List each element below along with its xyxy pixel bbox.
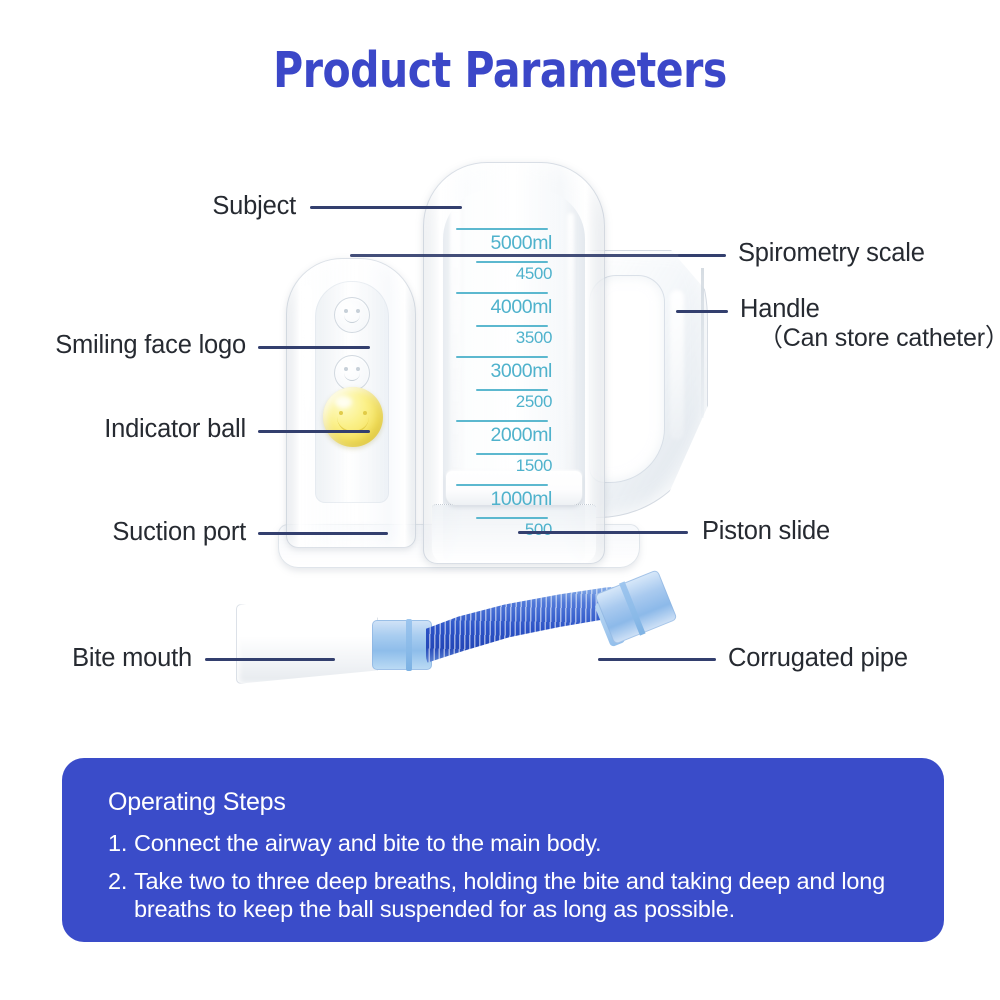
page-title: Product Parameters — [35, 42, 965, 99]
handle-edge — [701, 268, 704, 418]
callout-spirometry-scale: Spirometry scale — [738, 239, 925, 268]
smiley-face-logo-icon — [334, 355, 370, 391]
step-text: Connect the airway and bite to the main … — [134, 829, 910, 858]
leader-line-bite-mouth — [205, 658, 335, 661]
step-number: 2. — [108, 867, 134, 924]
corrugated-pipe-illustration — [228, 560, 698, 710]
scale-label-minor: 1500 — [516, 456, 552, 476]
scale-label-minor: 3500 — [516, 328, 552, 348]
scale-label-major: 4000ml — [490, 296, 552, 319]
leader-line-corrugated-pipe — [598, 658, 716, 661]
operating-steps-heading: Operating Steps — [108, 788, 910, 817]
scale-label-minor: 500 — [525, 520, 552, 540]
callout-smiling-face-logo: Smiling face logo — [0, 331, 246, 360]
scale-label-minor: 4500 — [516, 264, 552, 284]
callout-corrugated-pipe: Corrugated pipe — [728, 644, 908, 673]
callout-label: Smiling face logo — [55, 331, 246, 359]
callout-sublabel: （Can store catheter） — [740, 324, 1000, 352]
callout-handle: Handle （Can store catheter） — [740, 295, 1000, 352]
callout-suction-port: Suction port — [0, 518, 246, 547]
leader-line-suction-port — [258, 532, 388, 535]
callout-label: Handle — [740, 295, 820, 323]
leader-line-piston-slide — [518, 531, 688, 534]
step-text: Take two to three deep breaths, holding … — [134, 867, 910, 924]
main-chamber-highlight-left — [450, 201, 461, 501]
operating-steps-panel: Operating Steps 1. Connect the airway an… — [62, 758, 944, 942]
operating-step-item: 2. Take two to three deep breaths, holdi… — [108, 867, 910, 924]
callout-label: Subject — [212, 192, 296, 220]
callout-label: Spirometry scale — [738, 239, 925, 267]
ball-chamber-highlight — [303, 285, 312, 487]
leader-line-handle — [676, 310, 728, 313]
scale-label-minor: 2500 — [516, 392, 552, 412]
leader-line-spirometry-scale — [678, 254, 726, 257]
operating-step-item: 1. Connect the airway and bite to the ma… — [108, 829, 910, 858]
callout-label: Piston slide — [702, 517, 830, 545]
leader-line-smiling-face-logo — [258, 346, 370, 349]
leader-line-subject — [310, 206, 462, 209]
callout-label: Indicator ball — [104, 415, 246, 443]
leader-line-indicator-ball — [258, 430, 370, 433]
leader-line-spirometry-scale-inner — [350, 254, 680, 257]
callout-label: Bite mouth — [72, 644, 192, 672]
callout-indicator-ball: Indicator ball — [0, 415, 246, 444]
main-chamber-highlight-right — [567, 213, 574, 473]
bite-mouthpiece — [236, 604, 378, 684]
spirometer-device-illustration: 5000ml 4500 4000ml 3500 3000ml 2500 2000… — [258, 150, 728, 570]
smiley-face-logo-icon — [334, 297, 370, 333]
pipe-connector-near — [372, 620, 432, 670]
indicator-ball — [323, 387, 383, 447]
callout-bite-mouth: Bite mouth — [0, 644, 192, 673]
callout-piston-slide: Piston slide — [702, 517, 830, 546]
callout-label: Suction port — [112, 518, 246, 546]
callout-label: Corrugated pipe — [728, 644, 908, 672]
step-number: 1. — [108, 829, 134, 858]
scale-label-major: 5000ml — [490, 232, 552, 255]
scale-label-major: 3000ml — [490, 360, 552, 383]
scale-label-major: 2000ml — [490, 424, 552, 447]
callout-subject: Subject — [0, 192, 296, 221]
scale-label-major: 1000ml — [490, 488, 552, 511]
indicator-ball-chamber — [286, 258, 416, 548]
